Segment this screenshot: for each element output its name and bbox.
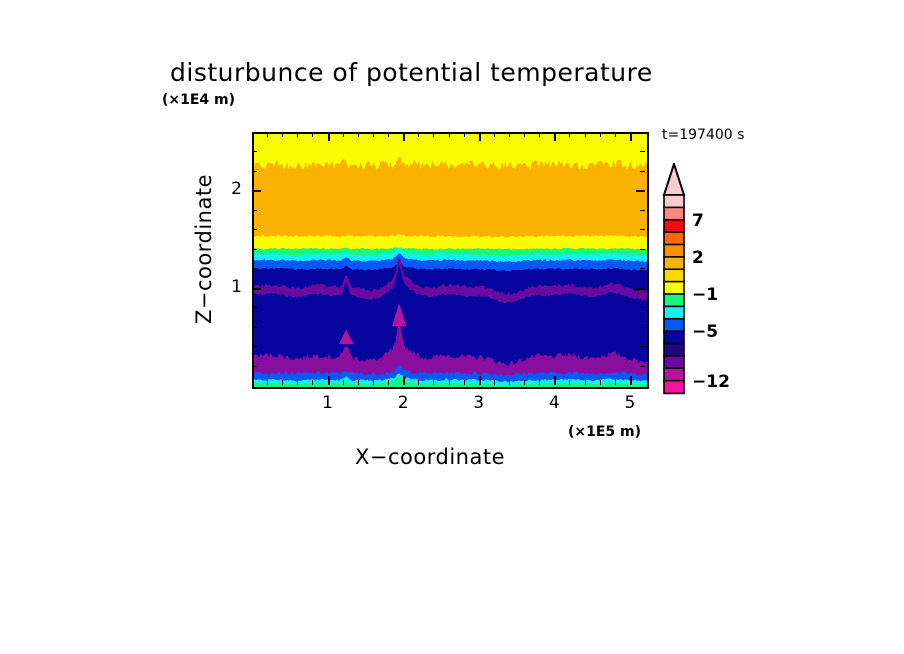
x-tick [267,380,268,385]
colorbar-band [664,245,684,258]
x-axis-units-label: (×1E5 m) [568,424,641,440]
y-tick [252,249,257,250]
contour-field [254,134,647,387]
x-tick-top [615,132,616,137]
colorbar-band [664,257,684,270]
x-tick-top [418,132,419,137]
x-tick-top [509,132,510,137]
x-tick [539,380,540,385]
x-tick [630,376,632,385]
y-tick-right [640,249,645,250]
y-tick-right [636,190,645,192]
figure-canvas: disturbunce of potential temperature (×1… [0,0,904,654]
x-tick-top [494,132,495,137]
x-tick-label: 3 [459,393,499,413]
y-tick-right [640,229,645,230]
colorbar-tick-label: −12 [692,372,730,392]
x-tick-label: 4 [534,393,574,413]
y-tick [252,366,257,367]
colorbar-arrow-tip [664,164,684,195]
x-tick [403,376,405,385]
x-tick-top [388,132,389,137]
y-tick [252,327,257,328]
colorbar-band [664,282,684,295]
colorbar-tick-label: −1 [692,285,718,305]
x-axis-title: X−coordinate [355,445,505,469]
x-tick-top [358,132,359,137]
y-tick [252,346,257,347]
x-tick-top [630,132,632,141]
y-tick-right [640,210,645,211]
x-tick [373,380,374,385]
x-tick-top [449,132,450,137]
y-tick [252,288,261,290]
y-tick [252,190,261,192]
x-tick [449,380,450,385]
colorbar-band [664,306,684,319]
y-tick-right [640,151,645,152]
x-tick [343,380,344,385]
x-tick [524,380,525,385]
y-tick-right [640,327,645,328]
x-tick [282,380,283,385]
y-tick [252,229,257,230]
x-tick-top [297,132,298,137]
x-tick [433,380,434,385]
y-tick-right [640,307,645,308]
colorbar-tick-label: 7 [692,211,704,231]
x-tick-top [479,132,481,141]
colorbar-tick-label: 2 [692,248,704,268]
x-tick [328,376,330,385]
colorbar-band [664,381,684,394]
x-tick-label: 2 [383,393,423,413]
x-tick [585,380,586,385]
page-title: disturbunce of potential temperature [170,58,770,87]
x-tick-top [433,132,434,137]
colorbar-band [664,207,684,220]
colorbar-band [664,331,684,344]
x-tick-label: 1 [308,393,348,413]
x-tick [297,380,298,385]
x-tick-top [282,132,283,137]
colorbar-band [664,344,684,357]
x-tick [388,380,389,385]
x-tick [312,380,313,385]
y-tick [252,171,257,172]
y-tick [252,307,257,308]
y-tick-right [640,346,645,347]
y-tick-right [640,366,645,367]
y-tick-right [640,268,645,269]
colorbar-band [664,232,684,245]
x-tick [615,380,616,385]
x-tick [479,376,481,385]
colorbar-legend[interactable]: 72−1−5−12 [662,163,782,395]
contour-plot-area[interactable] [252,132,649,389]
x-tick [494,380,495,385]
x-tick-top [539,132,540,137]
x-tick-top [328,132,330,141]
colorbar-swatches [662,163,688,395]
y-tick [252,151,257,152]
colorbar-band [664,269,684,282]
x-tick-top [373,132,374,137]
x-tick [600,380,601,385]
time-annotation: t=197400 s [662,127,744,143]
y-tick [252,268,257,269]
y-tick-right [640,171,645,172]
x-tick [464,380,465,385]
colorbar-band [664,319,684,332]
y-axis-title: Z−coordinate [192,169,216,329]
x-tick-top [524,132,525,137]
colorbar-tick-label: −5 [692,322,718,342]
y-tick-right [636,288,645,290]
x-tick [358,380,359,385]
colorbar-band [664,220,684,233]
x-tick-top [585,132,586,137]
x-tick-top [464,132,465,137]
colorbar-band [664,294,684,307]
y-tick [252,210,257,211]
x-tick [509,380,510,385]
colorbar-band [664,356,684,369]
x-tick-top [343,132,344,137]
x-tick-top [600,132,601,137]
x-tick-top [267,132,268,137]
x-tick-top [569,132,570,137]
colorbar-band [664,368,684,381]
x-tick [554,376,556,385]
colorbar-band [664,195,684,208]
x-tick-top [403,132,405,141]
x-tick [418,380,419,385]
x-tick-label: 5 [610,393,650,413]
x-tick [569,380,570,385]
x-tick-top [312,132,313,137]
y-axis-units-label: (×1E4 m) [162,92,235,108]
x-tick-top [554,132,556,141]
